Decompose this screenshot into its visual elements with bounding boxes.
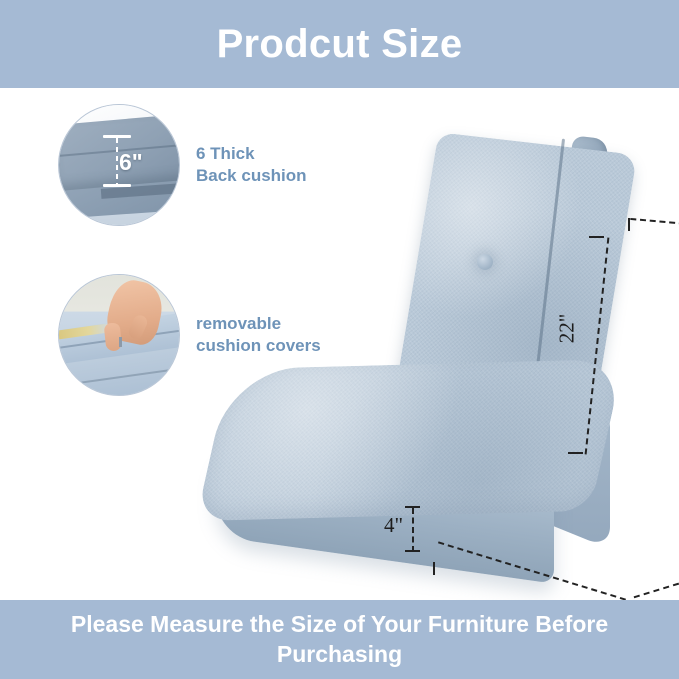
- dim-seat-thickness-label: 4": [384, 513, 403, 538]
- page-title: Prodcut Size: [217, 24, 463, 64]
- dim-back-height-cap-bottom: [568, 452, 583, 454]
- product-photo: 22" 6" 22" 4" 22" 24": [196, 92, 674, 592]
- dim-back-height-cap-top: [589, 236, 604, 238]
- footer-message: Please Measure the Size of Your Furnitur…: [0, 610, 679, 669]
- footer-banner: Please Measure the Size of Your Furnitur…: [0, 600, 679, 679]
- tufted-button: [477, 254, 493, 270]
- dim-seat-depth-tick: [433, 562, 435, 575]
- dim-seat-thickness-cap-bottom: [405, 550, 420, 552]
- measure-dashed-line: [116, 138, 118, 184]
- hand-unzipping-cover-photo: [58, 274, 180, 396]
- measure-cap-bottom: [103, 184, 131, 187]
- dim-seat-thickness-line: [412, 508, 414, 552]
- product-size-infographic: Prodcut Size 6" 6 Thick Back cushion: [0, 0, 679, 679]
- photo-zipper-pull: [119, 337, 122, 347]
- thickness-overlay-value: 6": [119, 149, 143, 176]
- dim-seat-width-line: [634, 544, 679, 599]
- dim-back-width-line: [630, 218, 679, 234]
- dim-back-height-label: 22": [554, 314, 579, 344]
- header-banner: Prodcut Size: [0, 0, 679, 88]
- back-cushion-side-view-photo: 6": [58, 104, 180, 226]
- seat-cushion-top: [196, 359, 624, 521]
